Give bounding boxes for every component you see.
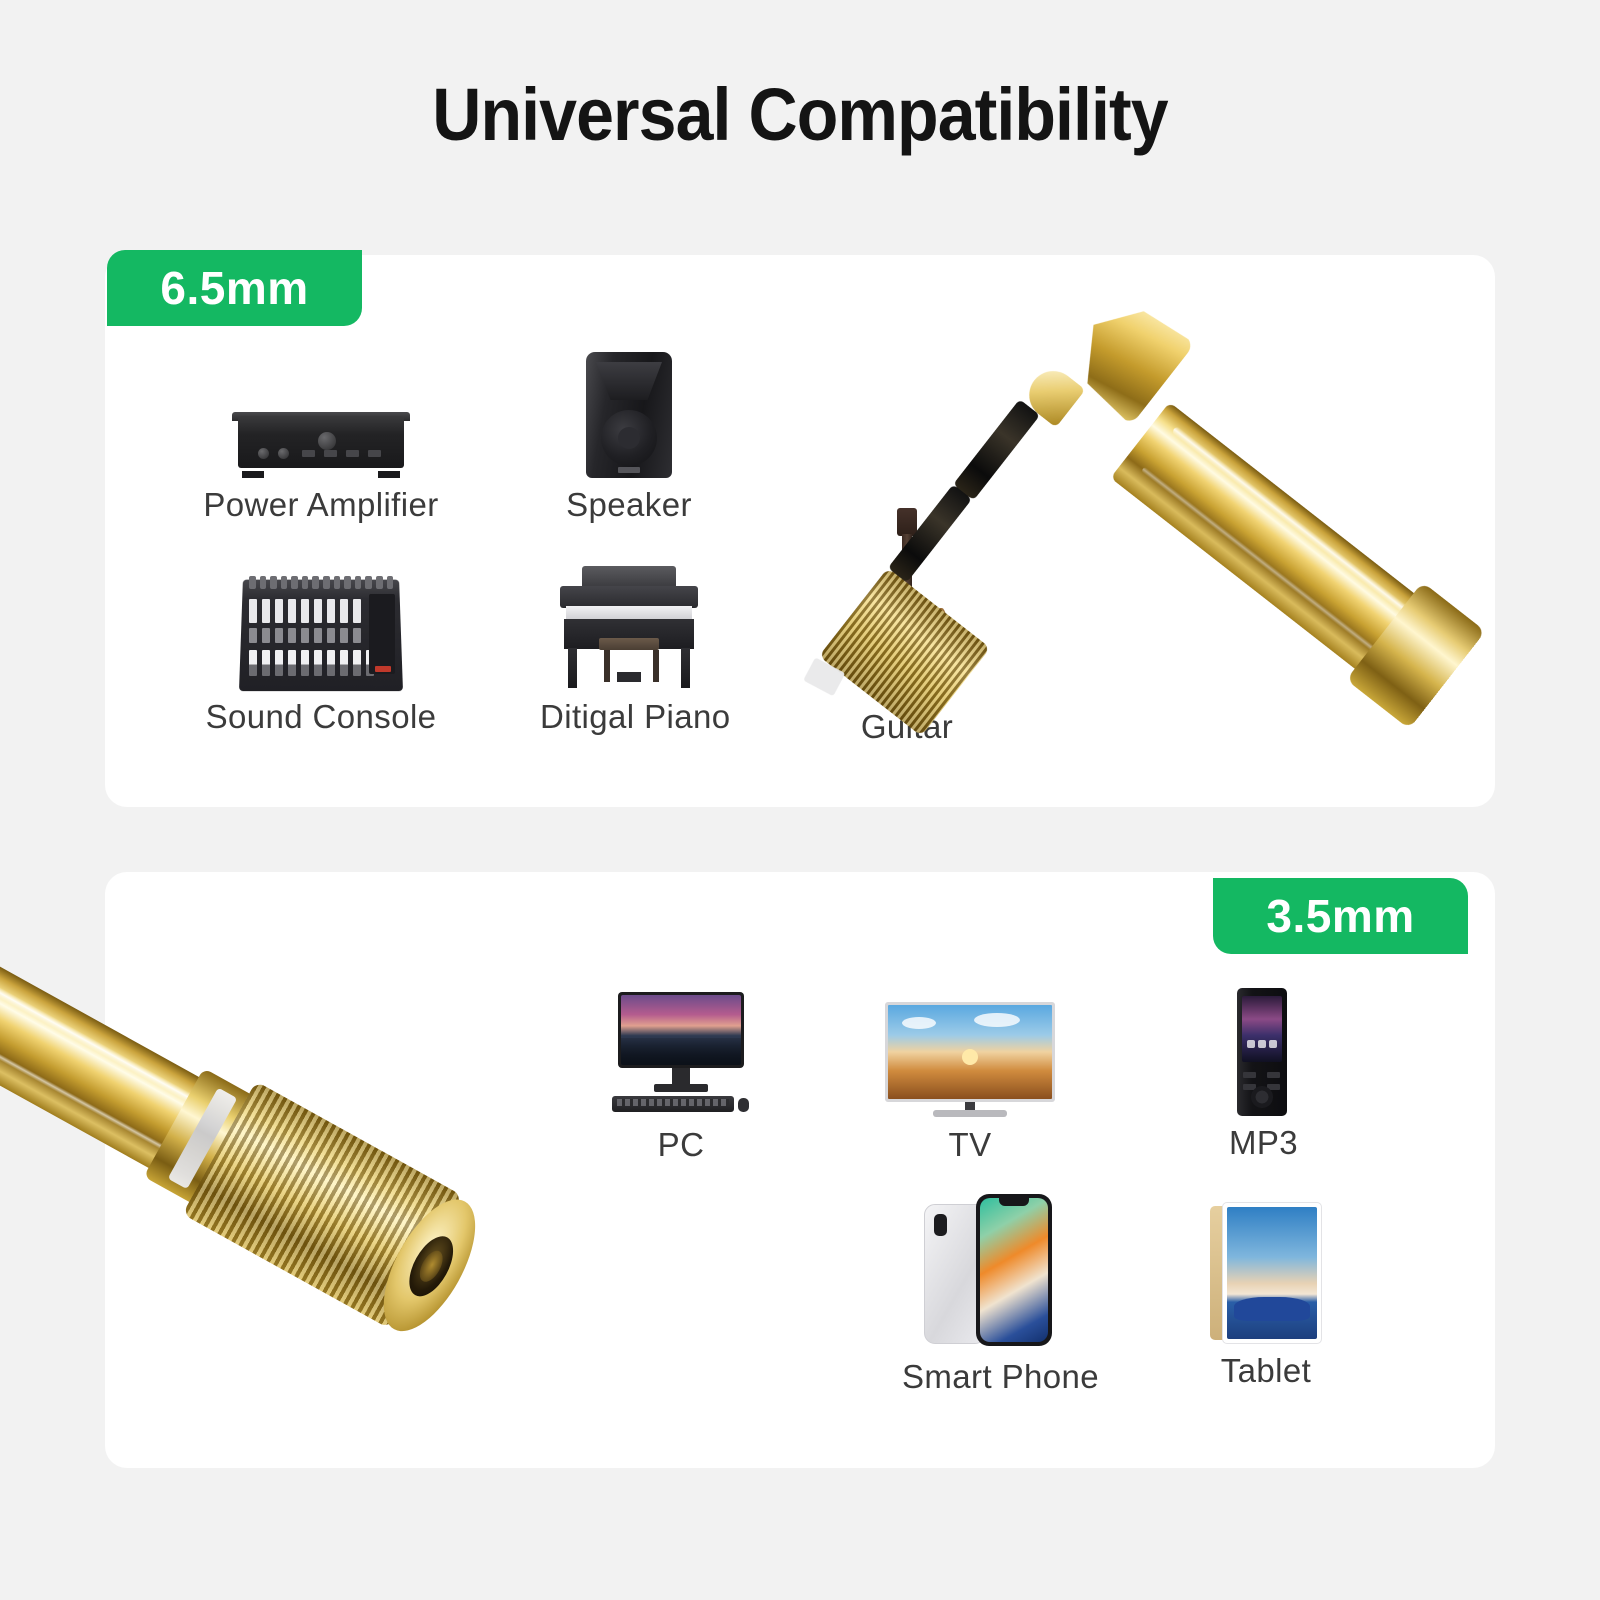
- device-pc: PC: [610, 992, 752, 1164]
- device-label: PC: [610, 1126, 752, 1164]
- device-label: Tablet: [1206, 1352, 1326, 1390]
- device-digital-piano: Ditigal Piano: [540, 566, 718, 736]
- product-infographic: Universal Compatibility 6.5mm Power Ampl…: [0, 0, 1600, 1600]
- device-label: Ditigal Piano: [540, 698, 718, 736]
- tablet-icon: [1206, 1202, 1326, 1344]
- smartphone-icon: [902, 1194, 1078, 1350]
- badge-6-5mm: 6.5mm: [107, 250, 362, 326]
- digital-piano-icon: [540, 566, 718, 690]
- device-tablet: Tablet: [1206, 1202, 1326, 1390]
- pc-icon: [610, 992, 752, 1118]
- device-guitar: Guitar: [818, 508, 996, 746]
- device-label: Power Amplifier: [196, 486, 446, 524]
- device-mp3: MP3: [1229, 988, 1295, 1162]
- device-label: MP3: [1229, 1124, 1295, 1162]
- device-power-amplifier: Power Amplifier: [196, 392, 446, 524]
- device-smart-phone: Smart Phone: [902, 1194, 1078, 1396]
- speaker-icon: [540, 352, 718, 478]
- device-label: Smart Phone: [902, 1358, 1078, 1396]
- page-title: Universal Compatibility: [64, 72, 1536, 157]
- device-label: Speaker: [540, 486, 718, 524]
- guitar-icon: [818, 508, 996, 700]
- sound-console-icon: [196, 566, 446, 690]
- device-tv: TV: [885, 1002, 1055, 1164]
- device-sound-console: Sound Console: [196, 566, 446, 736]
- badge-3-5mm: 3.5mm: [1213, 878, 1468, 954]
- device-label: Guitar: [818, 708, 996, 746]
- tv-icon: [885, 1002, 1055, 1118]
- device-speaker: Speaker: [540, 352, 718, 524]
- device-label: TV: [885, 1126, 1055, 1164]
- mp3-player-icon: [1229, 988, 1295, 1116]
- power-amplifier-icon: [196, 392, 446, 478]
- device-label: Sound Console: [196, 698, 446, 736]
